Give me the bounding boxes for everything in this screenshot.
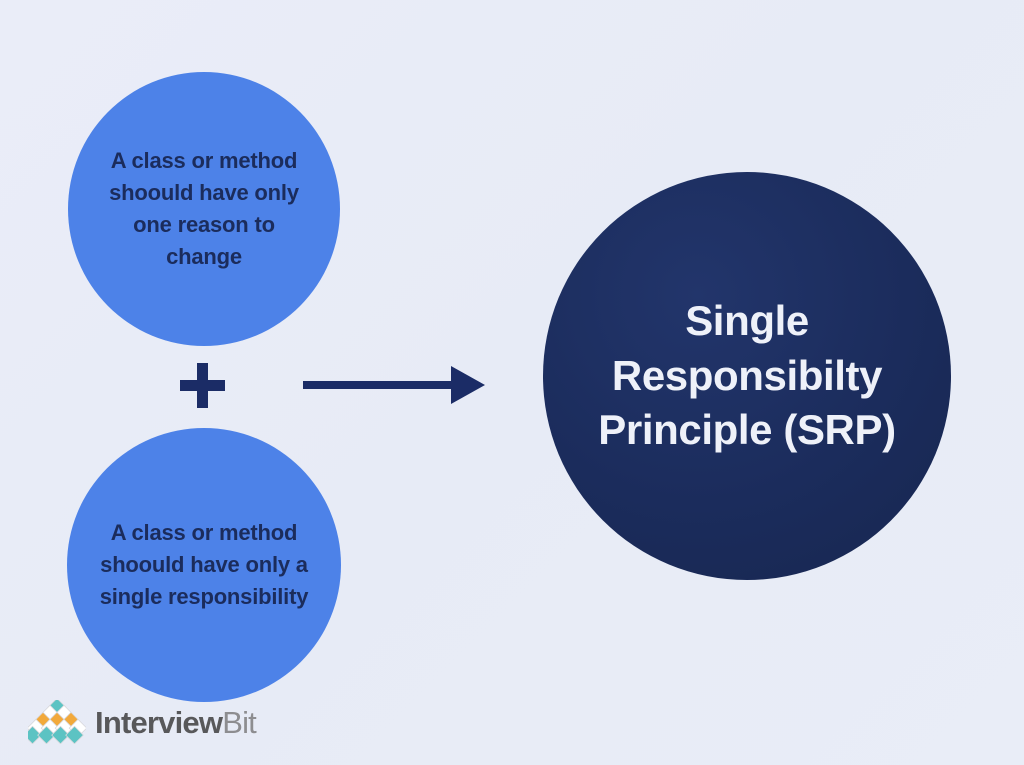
interviewbit-diamond-logo-icon (28, 700, 86, 744)
plus-horizontal-bar (180, 380, 225, 391)
condition-circle-two-label: A class or method shoould have only a si… (94, 517, 313, 613)
result-circle: Single Responsibilty Principle (SRP) (543, 172, 951, 580)
result-circle-label: Single Responsibilty Principle (SRP) (572, 294, 923, 458)
condition-circle-two: A class or method shoould have only a si… (67, 428, 341, 702)
condition-circle-one: A class or method shoould have only one … (68, 72, 340, 346)
arrow-head (451, 366, 485, 404)
arrow-shaft (303, 381, 455, 389)
diagram-canvas: A class or method shoould have only one … (0, 0, 1024, 765)
plus-operator-icon (180, 363, 225, 408)
right-arrow-icon (303, 362, 485, 408)
brand-word-interview: Interview (95, 705, 222, 740)
brand-word-bit: Bit (222, 705, 256, 740)
brand-logo-wordmark: InterviewBit (95, 707, 256, 738)
condition-circle-one-label: A class or method shoould have only one … (106, 145, 302, 273)
brand-logo: InterviewBit (28, 700, 256, 744)
